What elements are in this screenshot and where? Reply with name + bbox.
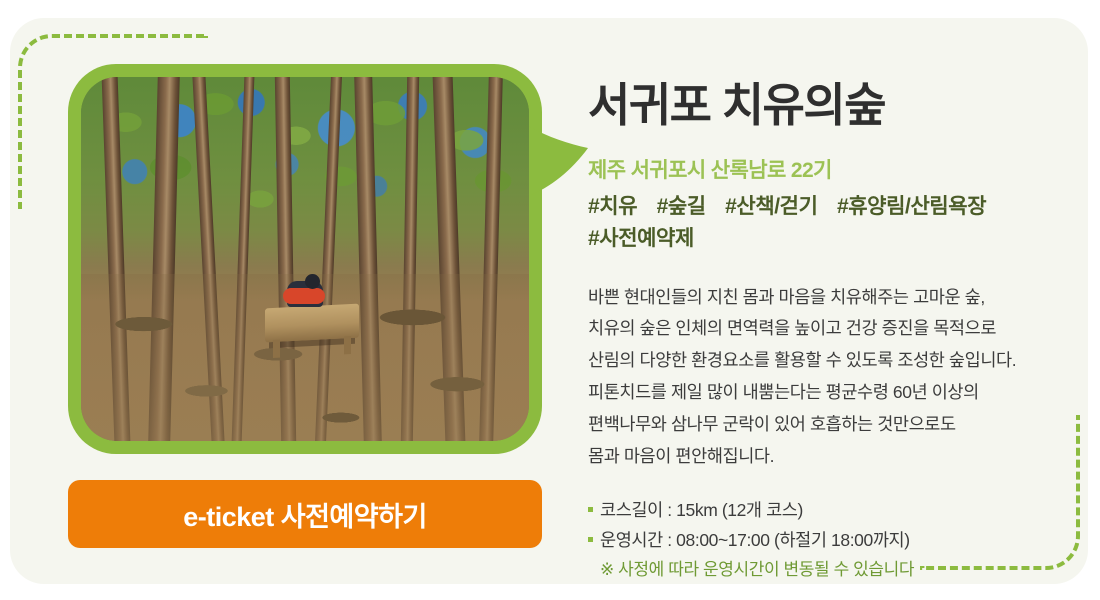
- operating-hours-value: 운영시간 : 08:00~17:00 (하절기 18:00까지): [600, 525, 910, 555]
- info-row-course-length: 코스길이 : 15km (12개 코스): [588, 495, 1058, 525]
- person-head: [305, 274, 320, 289]
- info-row-operating-hours: 운영시간 : 08:00~17:00 (하절기 18:00까지): [588, 525, 1058, 555]
- bullet-icon: [588, 507, 593, 512]
- left-column: e-ticket 사전예약하기: [68, 64, 548, 548]
- hashtag-item[interactable]: #치유: [588, 191, 637, 224]
- person-jacket: [283, 288, 325, 304]
- description-line: 바쁜 현대인들의 지친 몸과 마음을 치유해주는 고마운 숲,: [588, 282, 1058, 314]
- eticket-reservation-button[interactable]: e-ticket 사전예약하기: [68, 480, 542, 548]
- hashtag-item[interactable]: #숲길: [657, 191, 706, 224]
- photo-canopy-layer: [81, 77, 529, 303]
- hashtag-item[interactable]: #사전예약제: [588, 223, 694, 256]
- operating-hours-note: ※ 사정에 따라 운영시간이 변동될 수 있습니다: [600, 555, 1058, 584]
- info-card: e-ticket 사전예약하기 서귀포 치유의숲 제주 서귀포시 산록남로 22…: [10, 18, 1088, 584]
- place-address: 제주 서귀포시 산록남로 22기: [588, 154, 1058, 184]
- page-title: 서귀포 치유의숲: [588, 80, 1058, 132]
- description-line: 산림의 다양한 환경요소를 활용할 수 있도록 조성한 숲입니다.: [588, 345, 1058, 377]
- hashtag-item[interactable]: #산책/걷기: [725, 191, 817, 224]
- hashtag-item[interactable]: #휴양림/산림욕장: [837, 191, 986, 224]
- hashtag-list: #치유 #숲길 #산책/걷기 #휴양림/산림욕장 #사전예약제: [588, 191, 1048, 256]
- place-description: 바쁜 현대인들의 지친 몸과 마음을 치유해주는 고마운 숲, 치유의 숲은 인…: [588, 282, 1058, 473]
- right-column: 서귀포 치유의숲 제주 서귀포시 산록남로 22기 #치유 #숲길 #산책/걷기…: [588, 80, 1058, 584]
- bullet-icon: [588, 537, 593, 542]
- description-line: 치유의 숲은 인체의 면역력을 높이고 건강 증진을 목적으로: [588, 313, 1058, 345]
- course-length-value: 코스길이 : 15km (12개 코스): [600, 495, 803, 525]
- description-line: 편백나무와 삼나무 군락이 있어 호흡하는 것만으로도: [588, 409, 1058, 441]
- forest-photo: [81, 77, 529, 441]
- photo-speech-bubble: [68, 64, 542, 454]
- wooden-bench: [265, 304, 359, 343]
- description-line: 피톤치드를 제일 많이 내뿜는다는 평균수령 60년 이상의: [588, 377, 1058, 409]
- info-list: 코스길이 : 15km (12개 코스) 운영시간 : 08:00~17:00 …: [588, 495, 1058, 584]
- speech-bubble-tail: [528, 126, 588, 196]
- description-line: 몸과 마음이 편안해집니다.: [588, 441, 1058, 473]
